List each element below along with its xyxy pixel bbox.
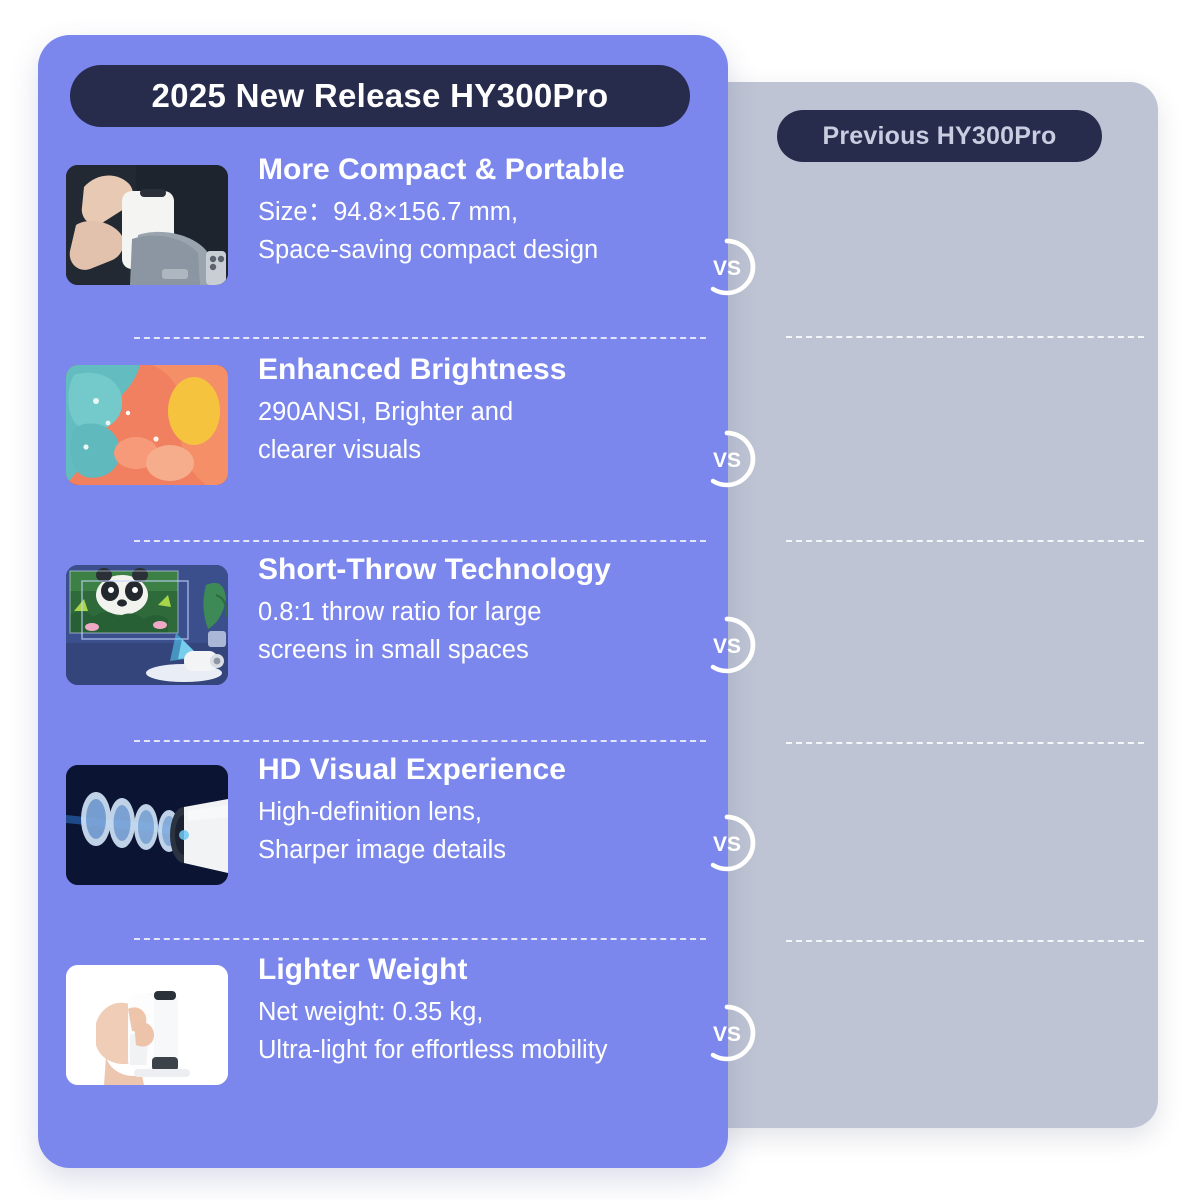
new-divider-3 bbox=[134, 740, 706, 742]
vs-badge-3: VS bbox=[696, 614, 758, 676]
new-row-3-text: Short-Throw Technology 0.8:1 throw ratio… bbox=[258, 553, 728, 670]
new-row-3: Short-Throw Technology 0.8:1 throw ratio… bbox=[38, 565, 728, 725]
previous-divider-1 bbox=[786, 336, 1144, 338]
new-divider-1 bbox=[134, 337, 706, 339]
new-row-1-line-1: Size：94.8×156.7 mm, bbox=[258, 193, 728, 232]
previous-divider-4 bbox=[786, 940, 1144, 942]
comparison-infographic: Previous HY300Pro Old Model Body Size Pr… bbox=[0, 0, 1200, 1200]
vs-badge-4: VS bbox=[696, 812, 758, 874]
new-model-header-label: 2025 New Release HY300Pro bbox=[152, 77, 609, 115]
new-row-1-line-2: Space-saving compact design bbox=[258, 231, 728, 270]
new-model-header-pill: 2025 New Release HY300Pro bbox=[70, 65, 690, 127]
new-row-4-text: HD Visual Experience High-definition len… bbox=[258, 753, 728, 870]
new-row-5-line-1: Net weight: 0.35 kg, bbox=[258, 993, 728, 1032]
new-row-2-line-2: clearer visuals bbox=[258, 431, 728, 470]
new-row-4-thumbnail bbox=[66, 765, 228, 885]
new-row-5-line-2: Ultra-light for effortless mobility bbox=[258, 1031, 728, 1070]
new-row-5-text: Lighter Weight Net weight: 0.35 kg, Ultr… bbox=[258, 953, 728, 1070]
previous-divider-2 bbox=[786, 540, 1144, 542]
svg-text:VS: VS bbox=[713, 635, 741, 658]
new-model-card: 2025 New Release HY300Pro bbox=[38, 35, 728, 1168]
previous-model-header-label: Previous HY300Pro bbox=[822, 122, 1056, 151]
new-row-4: HD Visual Experience High-definition len… bbox=[38, 765, 728, 925]
new-row-2: Enhanced Brightness 290ANSI, Brighter an… bbox=[38, 365, 728, 525]
previous-divider-3 bbox=[786, 742, 1144, 744]
new-row-3-line-2: screens in small spaces bbox=[258, 631, 728, 670]
new-row-1-title: More Compact & Portable bbox=[258, 153, 728, 187]
new-divider-2 bbox=[134, 540, 706, 542]
previous-model-header-pill: Previous HY300Pro bbox=[777, 110, 1102, 162]
svg-text:VS: VS bbox=[713, 257, 741, 280]
previous-model-card: Previous HY300Pro bbox=[700, 82, 1158, 1128]
new-row-3-title: Short-Throw Technology bbox=[258, 553, 728, 587]
new-row-2-text: Enhanced Brightness 290ANSI, Brighter an… bbox=[258, 353, 728, 470]
new-row-4-line-2: Sharper image details bbox=[258, 831, 728, 870]
vs-badge-2: VS bbox=[696, 428, 758, 490]
new-row-3-thumbnail bbox=[66, 565, 228, 685]
new-row-5: Lighter Weight Net weight: 0.35 kg, Ultr… bbox=[38, 965, 728, 1125]
new-row-4-line-1: High-definition lens, bbox=[258, 793, 728, 832]
new-row-2-thumbnail bbox=[66, 365, 228, 485]
new-row-1-text: More Compact & Portable Size：94.8×156.7 … bbox=[258, 153, 728, 270]
new-row-2-title: Enhanced Brightness bbox=[258, 353, 728, 387]
new-row-5-title: Lighter Weight bbox=[258, 953, 728, 987]
new-divider-4 bbox=[134, 938, 706, 940]
new-row-3-line-1: 0.8:1 throw ratio for large bbox=[258, 593, 728, 632]
svg-text:VS: VS bbox=[713, 449, 741, 472]
vs-badge-1: VS bbox=[696, 236, 758, 298]
svg-text:VS: VS bbox=[713, 833, 741, 856]
new-row-4-title: HD Visual Experience bbox=[258, 753, 728, 787]
new-row-1-thumbnail bbox=[66, 165, 228, 285]
new-row-2-line-1: 290ANSI, Brighter and bbox=[258, 393, 728, 432]
vs-badge-5: VS bbox=[696, 1002, 758, 1064]
new-row-5-thumbnail bbox=[66, 965, 228, 1085]
svg-text:VS: VS bbox=[713, 1023, 741, 1046]
new-row-1: More Compact & Portable Size：94.8×156.7 … bbox=[38, 165, 728, 325]
